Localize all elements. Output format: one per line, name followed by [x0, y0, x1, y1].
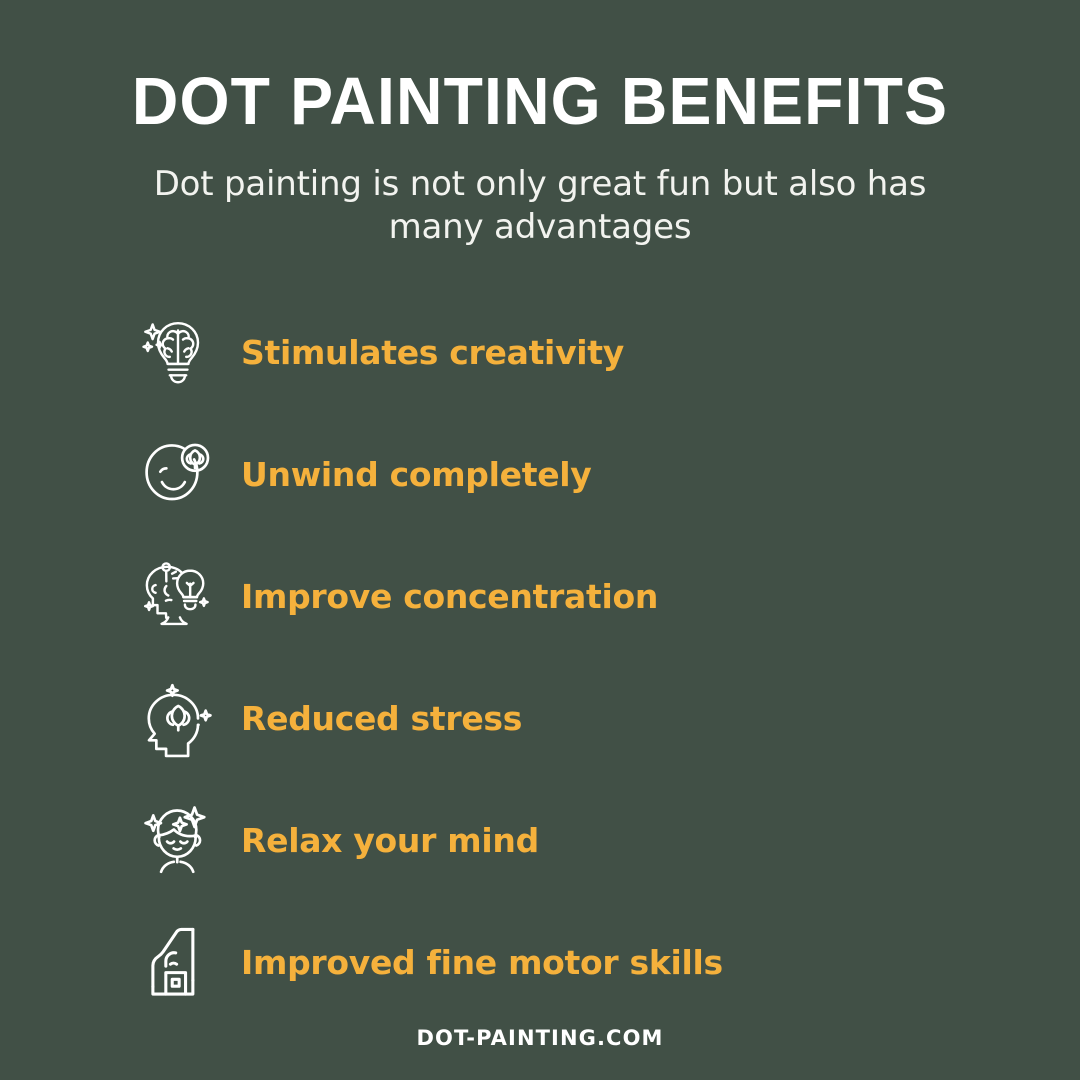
hand-pinching-object-icon [137, 921, 219, 1003]
benefit-label: Unwind completely [241, 455, 592, 494]
benefit-label: Improve concentration [241, 577, 658, 616]
benefit-label: Stimulates creativity [241, 333, 624, 372]
page-title: DOT PAINTING BENEFITS [22, 66, 1059, 137]
list-item: Improve concentration [0, 535, 1080, 657]
benefit-label: Improved fine motor skills [241, 943, 723, 982]
list-item: Improved fine motor skills [0, 901, 1080, 1023]
head-profile-lightbulb-icon [137, 555, 219, 637]
lightbulb-brain-icon [137, 311, 219, 393]
page-subtitle: Dot painting is not only great fun but a… [145, 163, 935, 249]
benefit-label: Reduced stress [241, 699, 522, 738]
list-item: Stimulates creativity [0, 291, 1080, 413]
infographic-poster: DOT PAINTING BENEFITS Dot painting is no… [0, 0, 1080, 1080]
poster-footer: DOT-PAINTING.COM [0, 1026, 1080, 1050]
smiling-face-flower-icon [137, 433, 219, 515]
benefits-list: Stimulates creativity Unwind completely [0, 291, 1080, 1023]
website-url: DOT-PAINTING.COM [416, 1026, 663, 1050]
benefit-label: Relax your mind [241, 821, 539, 860]
list-item: Relax your mind [0, 779, 1080, 901]
list-item: Reduced stress [0, 657, 1080, 779]
head-lotus-icon [137, 677, 219, 759]
poster-header: DOT PAINTING BENEFITS Dot painting is no… [0, 0, 1080, 249]
list-item: Unwind completely [0, 413, 1080, 535]
relaxed-face-stars-icon [137, 799, 219, 881]
